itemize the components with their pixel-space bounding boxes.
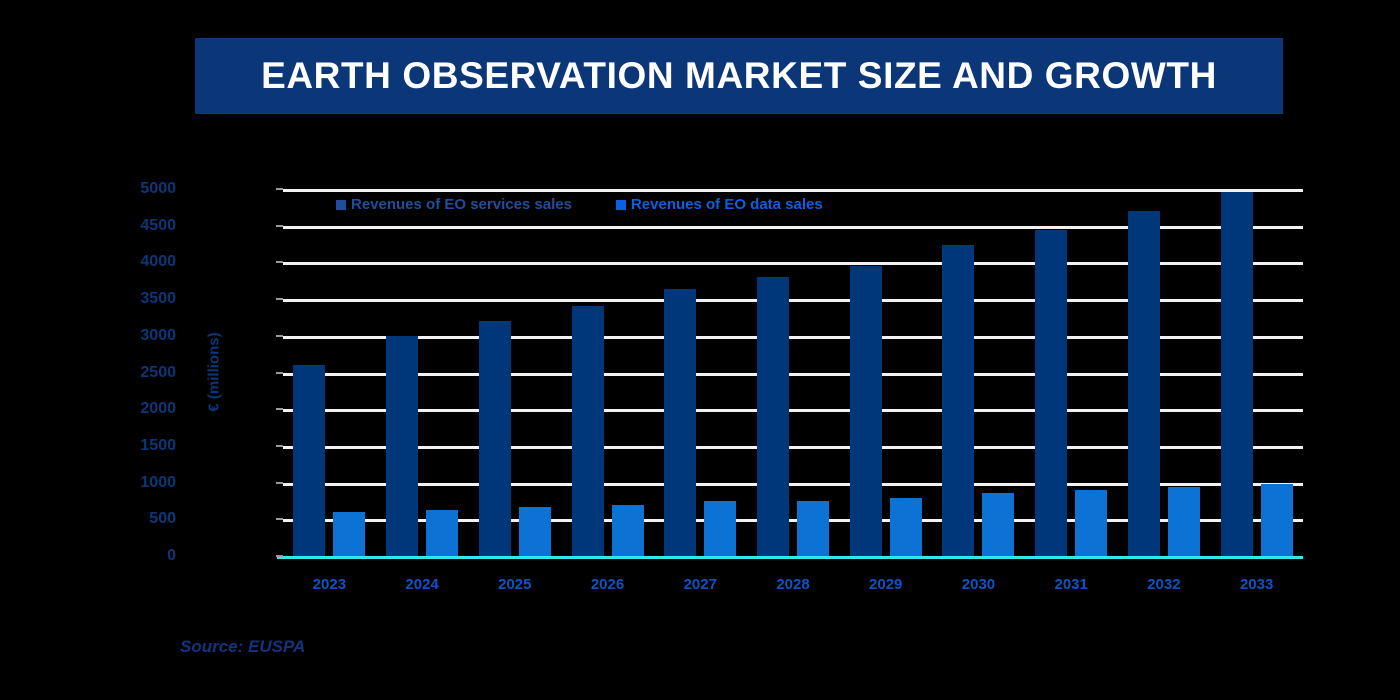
bar-services[interactable] [1221, 192, 1253, 556]
chart-container: € (millions) 500045004000350030002500200… [0, 0, 1400, 700]
x-axis-tick-label: 2030 [962, 576, 995, 593]
y-axis-tick-mark [276, 335, 283, 337]
legend-label-services: Revenues of EO services sales [351, 196, 572, 213]
bar-services[interactable] [293, 365, 325, 556]
bar-data[interactable] [704, 501, 736, 556]
legend-swatch-icon [336, 200, 346, 210]
bar-services[interactable] [757, 277, 789, 556]
x-axis-tick-label: 2023 [313, 576, 346, 593]
bar-data[interactable] [1168, 487, 1200, 556]
y-axis-tick-mark [276, 372, 283, 374]
x-axis-tick-label: 2028 [776, 576, 809, 593]
legend-swatch-icon [616, 200, 626, 210]
x-axis-tick-label: 2025 [498, 576, 531, 593]
bar-services[interactable] [479, 321, 511, 556]
y-axis-tick-label: 2000 [106, 400, 176, 418]
bar-services[interactable] [1035, 230, 1067, 556]
bar-data[interactable] [519, 507, 551, 556]
y-axis-tick-mark [276, 298, 283, 300]
y-axis-tick-mark [276, 518, 283, 520]
x-axis-tick-label: 2029 [869, 576, 902, 593]
legend-item-data[interactable]: Revenues of EO data sales [616, 196, 823, 213]
legend-label-data: Revenues of EO data sales [631, 196, 823, 213]
bar-data[interactable] [890, 498, 922, 556]
x-axis-tick-label: 2024 [405, 576, 438, 593]
bar-services[interactable] [386, 336, 418, 556]
y-axis-tick-label: 3500 [106, 290, 176, 308]
y-axis-title: € (millions) [206, 332, 223, 411]
x-axis-tick-label: 2033 [1240, 576, 1273, 593]
y-axis-tick-label: 4000 [106, 253, 176, 271]
baseline-axis [277, 556, 1303, 559]
plot-area: 5000450040003500300025002000150010005000 [283, 189, 1303, 556]
bar-data[interactable] [982, 493, 1014, 556]
y-axis-tick-label: 1500 [106, 437, 176, 455]
y-axis-tick-mark [276, 482, 283, 484]
y-axis-tick-label: 1000 [106, 474, 176, 492]
y-axis-tick-label: 0 [106, 547, 176, 565]
bar-services[interactable] [1128, 211, 1160, 556]
x-axis-tick-label: 2027 [684, 576, 717, 593]
y-axis-tick-mark [276, 445, 283, 447]
bar-data[interactable] [797, 501, 829, 556]
y-axis-tick-label: 5000 [106, 180, 176, 198]
chart-legend: Revenues of EO services sales Revenues o… [336, 196, 823, 213]
bar-data[interactable] [612, 505, 644, 556]
y-axis-tick-label: 3000 [106, 327, 176, 345]
bar-services[interactable] [572, 306, 604, 556]
bar-data[interactable] [1075, 490, 1107, 556]
y-axis-tick-mark [276, 261, 283, 263]
y-axis-tick-label: 500 [106, 510, 176, 528]
x-axis-tick-label: 2026 [591, 576, 624, 593]
bar-services[interactable] [664, 289, 696, 556]
bar-services[interactable] [942, 245, 974, 556]
legend-item-services[interactable]: Revenues of EO services sales [336, 196, 572, 213]
x-axis-tick-label: 2031 [1054, 576, 1087, 593]
bar-data[interactable] [426, 510, 458, 556]
y-axis-tick-mark [276, 555, 283, 557]
bar-data[interactable] [333, 512, 365, 556]
x-axis-tick-label: 2032 [1147, 576, 1180, 593]
y-axis-tick-mark [276, 225, 283, 227]
bar-data[interactable] [1261, 484, 1293, 556]
y-axis-tick-mark [276, 408, 283, 410]
y-axis-tick-label: 2500 [106, 364, 176, 382]
gridline [283, 189, 1303, 192]
y-axis-tick-mark [276, 188, 283, 190]
y-axis-tick-label: 4500 [106, 217, 176, 235]
bar-services[interactable] [850, 266, 882, 556]
source-note: Source: EUSPA [180, 637, 305, 657]
